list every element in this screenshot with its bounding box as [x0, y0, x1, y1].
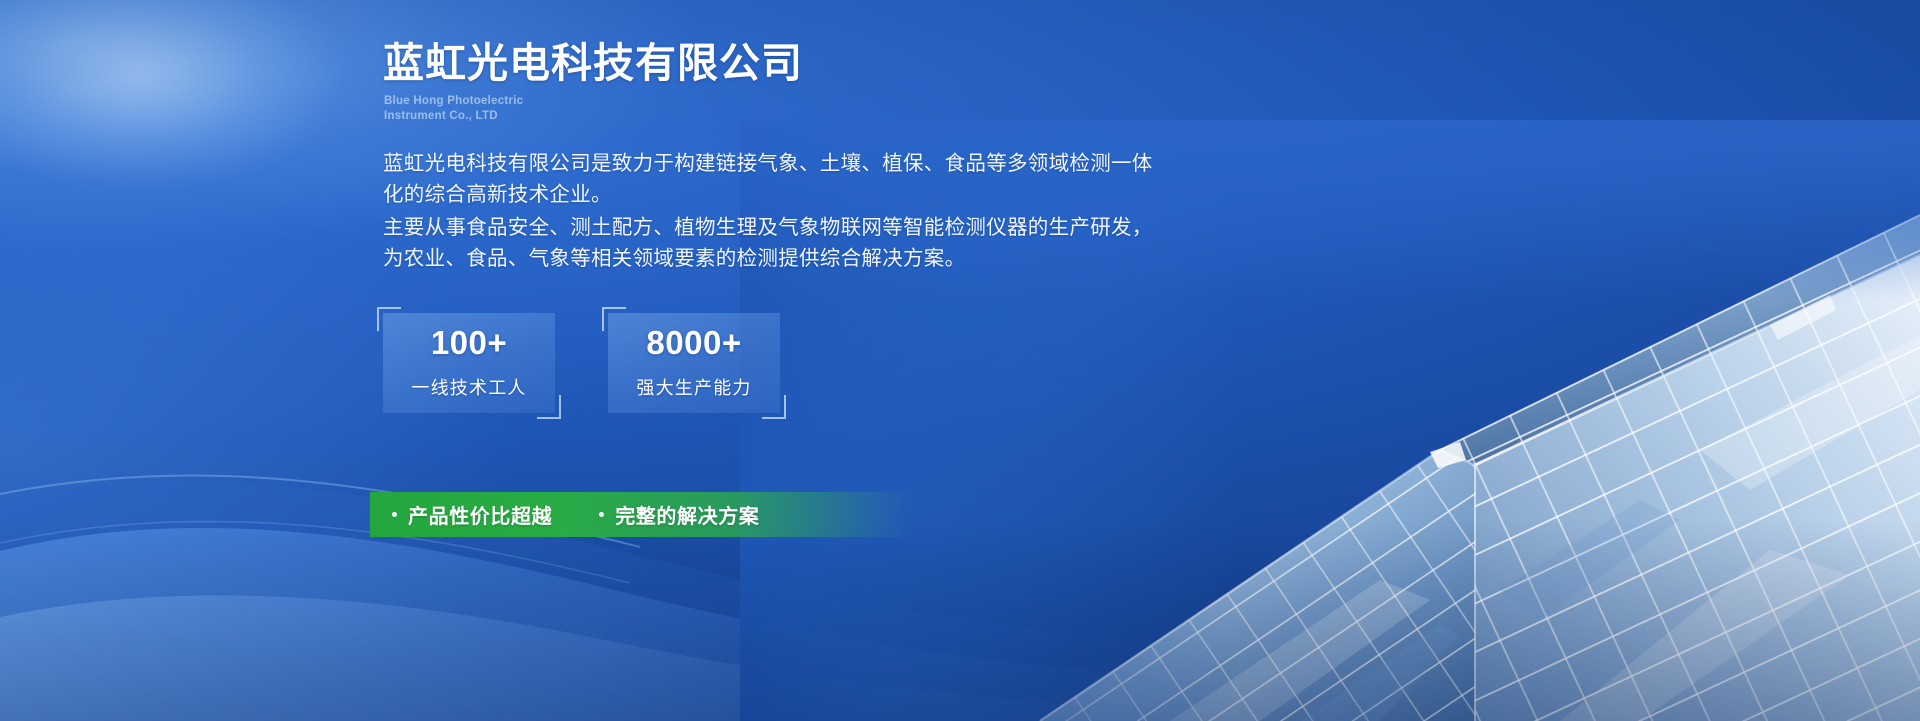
paragraph-1-line-1: 蓝虹光电科技有限公司是致力于构建链接气象、土壤、植保、食品等多领域检测一体	[383, 148, 1183, 179]
paragraph-1-line-2: 化的综合高新技术企业。	[383, 179, 1183, 210]
intro-paragraph-2: 主要从事食品安全、测土配方、植物生理及气象物联网等智能检测仪器的生产研发， 为农…	[383, 212, 1183, 274]
stat-value: 100+	[431, 326, 507, 359]
company-subtitle-en: Blue Hong Photoelectric Instrument Co., …	[384, 94, 523, 123]
paragraph-2-line-1: 主要从事食品安全、测土配方、植物生理及气象物联网等智能检测仪器的生产研发，	[383, 212, 1183, 243]
corner-bracket-icon	[762, 395, 786, 419]
bullet-dot-icon	[392, 512, 397, 517]
paragraph-2-line-2: 为农业、食品、气象等相关领域要素的检测提供综合解决方案。	[383, 243, 1183, 274]
stat-label: 强大生产能力	[636, 374, 751, 400]
stat-value: 8000+	[646, 326, 741, 359]
hero-banner: 蓝虹光电科技有限公司 Blue Hong Photoelectric Instr…	[0, 0, 1920, 721]
feature-banner: 产品性价比超越 完整的解决方案	[370, 492, 915, 537]
stat-card-group: 100+ 一线技术工人 8000+ 强大生产能力	[383, 313, 780, 413]
intro-paragraph-1: 蓝虹光电科技有限公司是致力于构建链接气象、土壤、植保、食品等多领域检测一体 化的…	[383, 148, 1183, 210]
stat-label: 一线技术工人	[411, 374, 526, 400]
bullet-dot-icon	[599, 512, 604, 517]
feature-tag-label: 产品性价比超越	[408, 500, 552, 529]
corner-bracket-icon	[602, 307, 626, 331]
subtitle-line-1: Blue Hong Photoelectric	[384, 94, 523, 109]
corner-bracket-icon	[537, 395, 561, 419]
hero-content: 蓝虹光电科技有限公司 Blue Hong Photoelectric Instr…	[383, 0, 1483, 721]
feature-tag-value: 产品性价比超越	[392, 500, 552, 529]
stat-card-capacity: 8000+ 强大生产能力	[608, 313, 780, 413]
feature-tag-solution: 完整的解决方案	[599, 500, 759, 529]
page-title: 蓝虹光电科技有限公司	[383, 40, 803, 87]
feature-tag-label: 完整的解决方案	[615, 500, 759, 529]
subtitle-line-2: Instrument Co., LTD	[384, 109, 523, 124]
stat-card-workers: 100+ 一线技术工人	[383, 313, 555, 413]
